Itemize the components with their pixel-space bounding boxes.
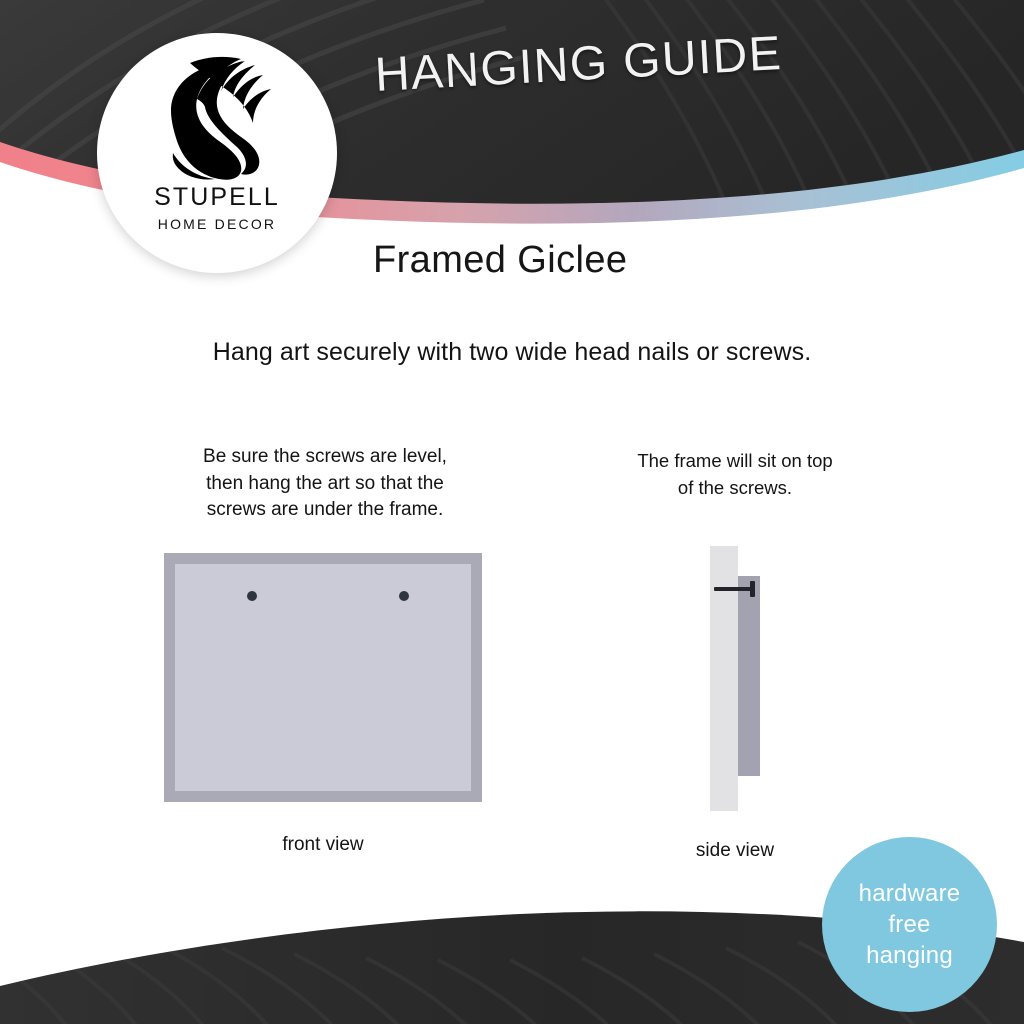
brand-tagline: HOME DECOR bbox=[97, 216, 337, 232]
front-view-art-surface bbox=[175, 564, 471, 791]
side-view-caption-block: The frame will sit on top of the screws. bbox=[585, 448, 885, 501]
promo-badge-line-2: free bbox=[888, 909, 930, 940]
front-view-caption-line-3: screws are under the frame. bbox=[140, 497, 510, 524]
side-view-wall bbox=[710, 546, 738, 811]
stupell-swirl-logo-icon bbox=[157, 55, 277, 181]
front-view-caption-block: Be sure the screws are level, then hang … bbox=[140, 444, 510, 524]
nail-head-icon bbox=[750, 581, 755, 597]
page-title: HANGING GUIDE bbox=[374, 26, 784, 103]
brand-logo-badge: STUPELL HOME DECOR bbox=[97, 33, 337, 273]
side-view-caption-line-1: The frame will sit on top bbox=[585, 448, 885, 475]
product-type-label: Framed Giclee bbox=[373, 239, 627, 282]
nail-shaft-icon bbox=[714, 587, 754, 591]
front-view-caption-line-1: Be sure the screws are level, bbox=[140, 444, 510, 471]
screw-dot-left-icon bbox=[247, 591, 257, 601]
main-instruction-text: Hang art securely with two wide head nai… bbox=[0, 338, 1024, 367]
side-view-label: side view bbox=[640, 840, 830, 862]
side-view-caption-line-2: of the screws. bbox=[585, 475, 885, 502]
hardware-free-hanging-badge: hardware free hanging bbox=[822, 837, 997, 1012]
screw-dot-right-icon bbox=[399, 591, 409, 601]
front-view-frame-diagram bbox=[164, 553, 482, 802]
hanging-guide-page: HANGING GUIDE STUPELL HOME DECOR Framed … bbox=[0, 0, 1024, 1024]
side-view-frame bbox=[738, 576, 760, 776]
promo-badge-line-3: hanging bbox=[866, 940, 953, 971]
front-view-label: front view bbox=[164, 834, 482, 856]
front-view-caption-line-2: then hang the art so that the bbox=[140, 471, 510, 498]
brand-name: STUPELL bbox=[97, 183, 337, 212]
side-view-frame-diagram bbox=[700, 546, 770, 811]
promo-badge-line-1: hardware bbox=[859, 878, 961, 909]
